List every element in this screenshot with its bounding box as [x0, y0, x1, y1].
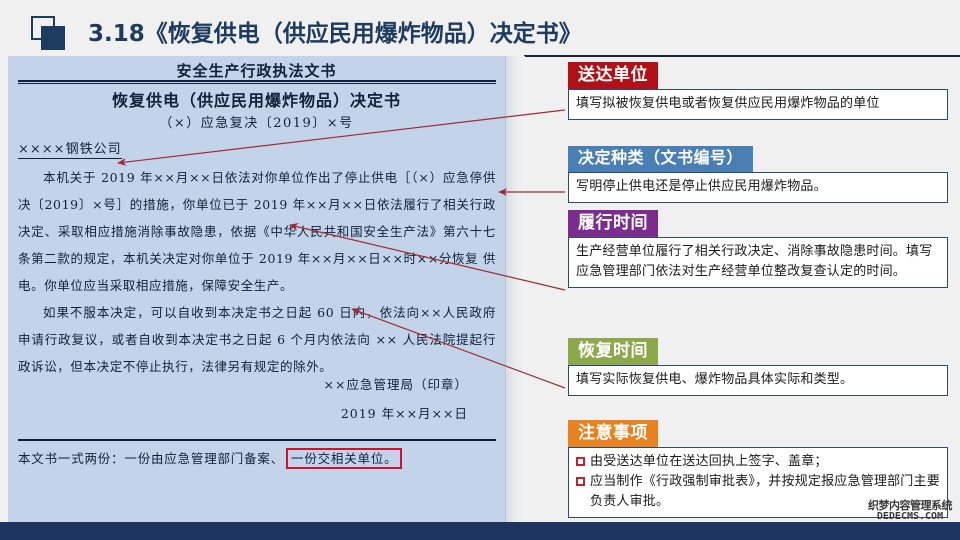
footer-prefix-text: 本文书一式两份：一份由应急管理部门备案、	[18, 451, 284, 466]
document-footer: 本文书一式两份：一份由应急管理部门备案、一份交相关单位。	[18, 448, 402, 467]
document-scan-panel: 安全生产行政执法文书 恢复供电（供应民用爆炸物品）决定书 （×）应急复决〔201…	[8, 56, 525, 522]
document-page: 安全生产行政执法文书 恢复供电（供应民用爆炸物品）决定书 （×）应急复决〔201…	[8, 56, 505, 522]
annotation-badge: 恢复时间	[568, 338, 658, 365]
document-recipient: ××××钢铁公司	[18, 138, 122, 159]
checkbox-icon	[576, 457, 585, 466]
document-paragraph-2: 如果不服本决定，可以自收到本决定书之日起 60 日内，依法向××人民政府申请行政…	[18, 299, 496, 380]
annotation-badge: 送达单位	[568, 62, 658, 89]
document-title: 恢复供电（供应民用爆炸物品）决定书	[8, 87, 505, 111]
page-header: 3.18《恢复供电（供应民用爆炸物品）决定书》	[0, 0, 960, 56]
logo-square-filled	[41, 26, 65, 50]
signature-date: 2019 年××月××日	[8, 399, 468, 428]
annotation-badge: 注意事项	[568, 420, 658, 447]
annotation-panel-decision-type: 决定种类（文书编号） 写明停止供电还是停止供应民用爆炸物品。	[568, 146, 948, 203]
checkbox-icon	[576, 477, 585, 486]
annotation-note: 填写拟被恢复供电或者恢复供应民用爆炸物品的单位	[568, 89, 948, 120]
document-paragraph-1: 本机关于 2019 年××月××日依法对你单位作出了停止供电［（×）应急停供决〔…	[18, 164, 496, 299]
document-heading-rule	[18, 80, 496, 84]
header-divider	[524, 55, 960, 57]
watermark-en: DEDECMS.COM	[860, 511, 960, 522]
document-scroll-strip[interactable]	[505, 56, 525, 522]
footer-highlight-box: 一份交相关单位。	[286, 448, 402, 469]
watermark: 织梦内容管理系统 DEDECMS.COM	[860, 500, 960, 522]
watermark-cn: 织梦内容管理系统	[860, 500, 960, 511]
document-footer-rule	[18, 439, 496, 442]
document-heading: 安全生产行政执法文书	[8, 60, 505, 81]
signature-organization: ××应急管理局（印章）	[8, 370, 468, 399]
annotation-note: 写明停止供电还是停止供应民用爆炸物品。	[568, 172, 948, 203]
annotation-badge: 履行时间	[568, 210, 658, 237]
annotation-badge: 决定种类（文书编号）	[568, 146, 753, 172]
annotation-note: 填写实际恢复供电、爆炸物品具体实际和类型。	[568, 365, 948, 396]
list-item: 由受送达单位在送达回执上签字、盖章；	[576, 452, 940, 472]
notice-text: 由受送达单位在送达回执上签字、盖章；	[590, 452, 828, 472]
annotation-panel-restore-time: 恢复时间 填写实际恢复供电、爆炸物品具体实际和类型。	[568, 338, 948, 396]
document-signature-block: ××应急管理局（印章） 2019 年××月××日	[8, 370, 468, 428]
page-title: 3.18《恢复供电（供应民用爆炸物品）决定书》	[88, 14, 582, 48]
stacked-squares-logo-icon	[31, 16, 65, 50]
bottom-bar	[0, 522, 960, 540]
annotation-panel-delivery-unit: 送达单位 填写拟被恢复供电或者恢复供应民用爆炸物品的单位	[568, 62, 948, 120]
document-body: 本机关于 2019 年××月××日依法对你单位作出了停止供电［（×）应急停供决〔…	[18, 164, 496, 380]
document-number: （×）应急复决〔2019〕×号	[8, 112, 505, 131]
annotation-panel-performance-time: 履行时间 生产经营单位履行了相关行政决定、消除事故隐患时间。填写应急管理部门依法…	[568, 210, 948, 288]
annotation-note: 生产经营单位履行了相关行政决定、消除事故隐患时间。填写应急管理部门依法对生产经营…	[568, 237, 948, 288]
